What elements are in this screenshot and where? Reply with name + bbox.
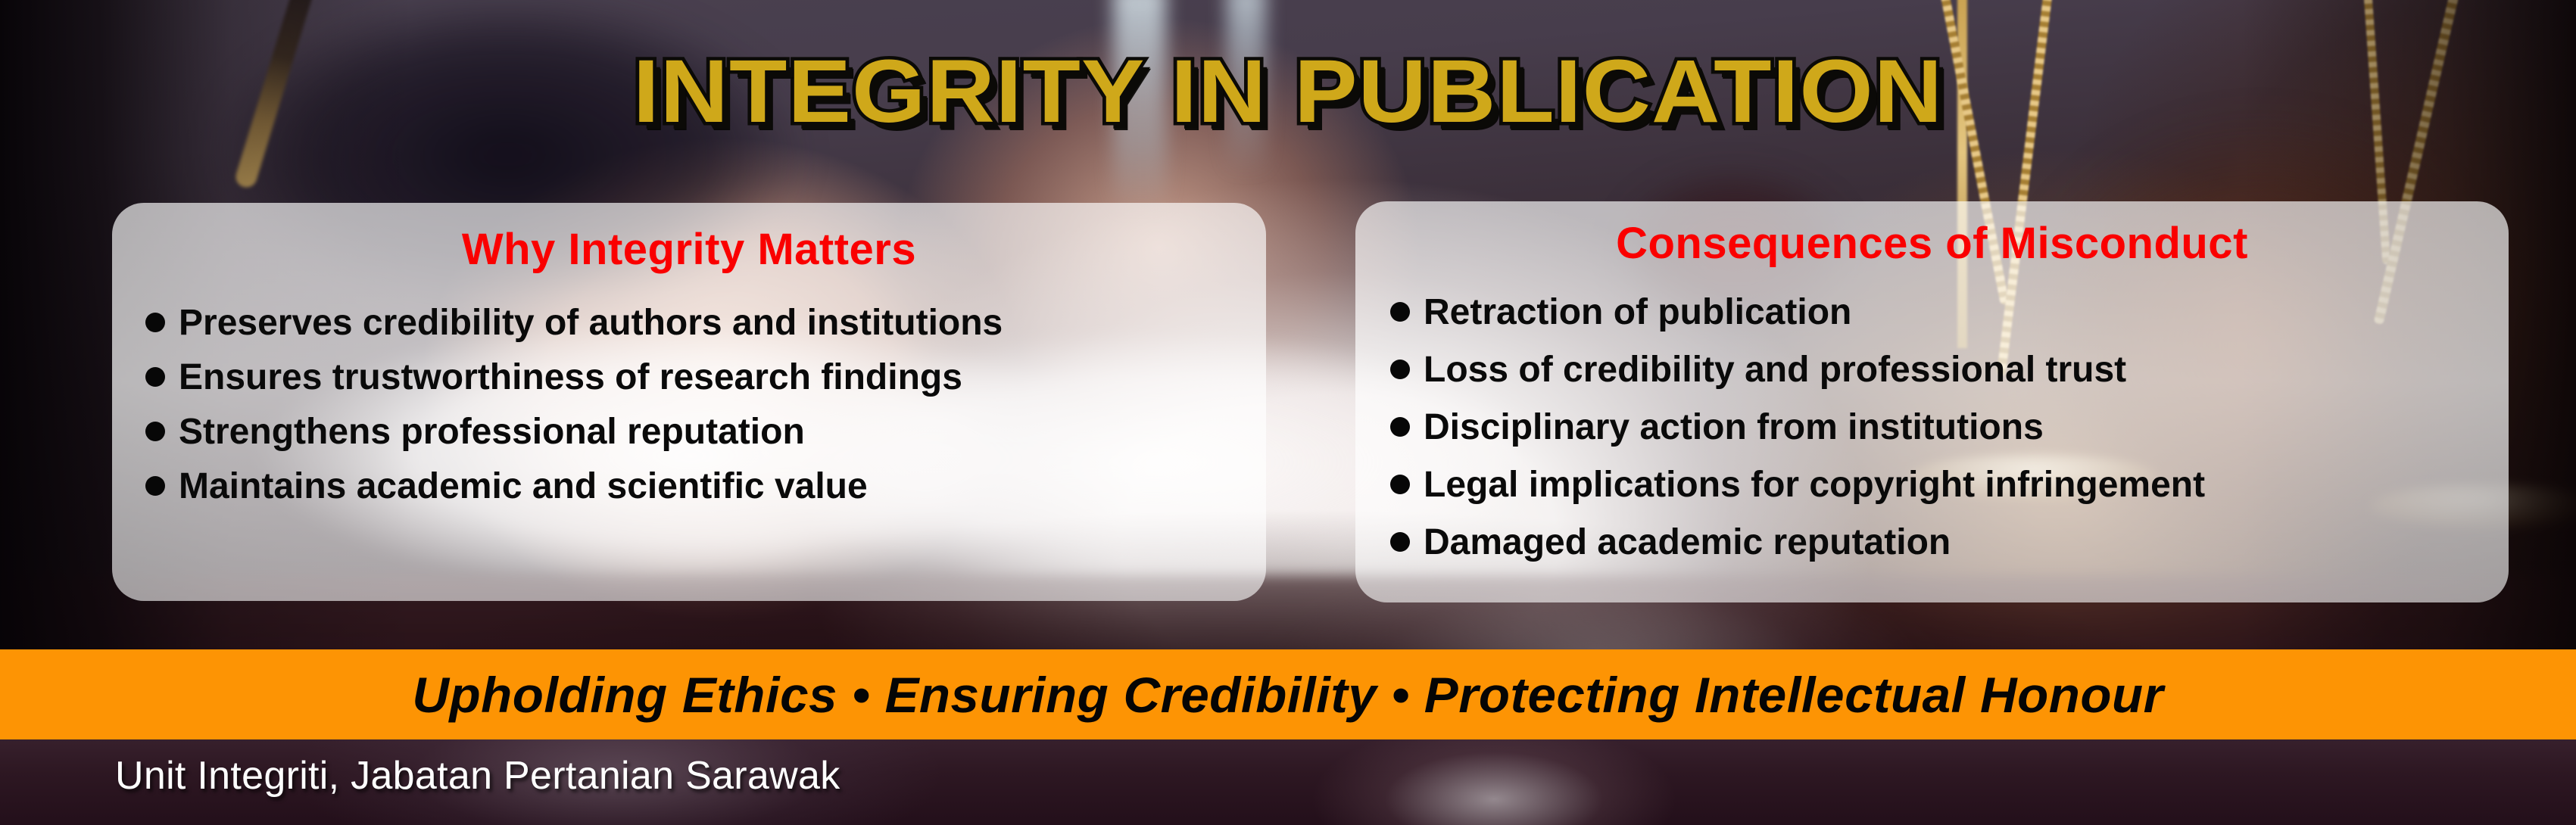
list-item-label: Disciplinary action from institutions	[1424, 399, 2044, 456]
list-item-label: Strengthens professional reputation	[179, 405, 805, 459]
bullet-dot-icon	[145, 313, 165, 332]
list-item: Ensures trustworthiness of research find…	[145, 350, 1266, 405]
tagline-bar: Upholding Ethics • Ensuring Credibility …	[0, 649, 2576, 739]
list-item-label: Ensures trustworthiness of research find…	[179, 350, 962, 405]
list-item: Loss of credibility and professional tru…	[1390, 341, 2509, 399]
list-item: Disciplinary action from institutions	[1390, 399, 2509, 456]
integrity-banner: INTEGRITY IN PUBLICATION Why Integrity M…	[0, 0, 2576, 825]
bullet-dot-icon	[1390, 475, 1410, 494]
bullet-dot-icon	[1390, 417, 1410, 437]
card-left-bullet-list: Preserves credibility of authors and ins…	[112, 296, 1266, 514]
footer-strip: Unit Integriti, Jabatan Pertanian Sarawa…	[0, 739, 2576, 825]
list-item: Preserves credibility of authors and ins…	[145, 296, 1266, 350]
list-item: Legal implications for copyright infring…	[1390, 456, 2509, 514]
bullet-dot-icon	[1390, 302, 1410, 322]
list-item-label: Loss of credibility and professional tru…	[1424, 341, 2126, 399]
card-right-heading: Consequences of Misconduct	[1355, 218, 2509, 269]
list-item-label: Retraction of publication	[1424, 284, 1851, 341]
list-item-label: Preserves credibility of authors and ins…	[179, 296, 1003, 350]
card-why-integrity-matters: Why Integrity Matters Preserves credibil…	[112, 203, 1266, 601]
bullet-dot-icon	[145, 367, 165, 387]
list-item: Damaged academic reputation	[1390, 514, 2509, 571]
bullet-dot-icon	[1390, 532, 1410, 552]
list-item: Strengthens professional reputation	[145, 405, 1266, 459]
footer-organisation-label: Unit Integriti, Jabatan Pertanian Sarawa…	[115, 753, 840, 799]
list-item-label: Legal implications for copyright infring…	[1424, 456, 2205, 514]
card-consequences-of-misconduct: Consequences of Misconduct Retraction of…	[1355, 201, 2509, 602]
card-left-heading: Why Integrity Matters	[112, 224, 1266, 275]
bullet-dot-icon	[145, 422, 165, 441]
card-right-bullet-list: Retraction of publication Loss of credib…	[1355, 284, 2509, 571]
page-title: INTEGRITY IN PUBLICATION	[0, 47, 2576, 136]
list-item-label: Damaged academic reputation	[1424, 514, 1951, 571]
list-item: Retraction of publication	[1390, 284, 2509, 341]
list-item: Maintains academic and scientific value	[145, 459, 1266, 514]
list-item-label: Maintains academic and scientific value	[179, 459, 868, 514]
tagline-text: Upholding Ethics • Ensuring Credibility …	[412, 666, 2163, 724]
bullet-dot-icon	[1390, 360, 1410, 379]
bullet-dot-icon	[145, 476, 165, 496]
